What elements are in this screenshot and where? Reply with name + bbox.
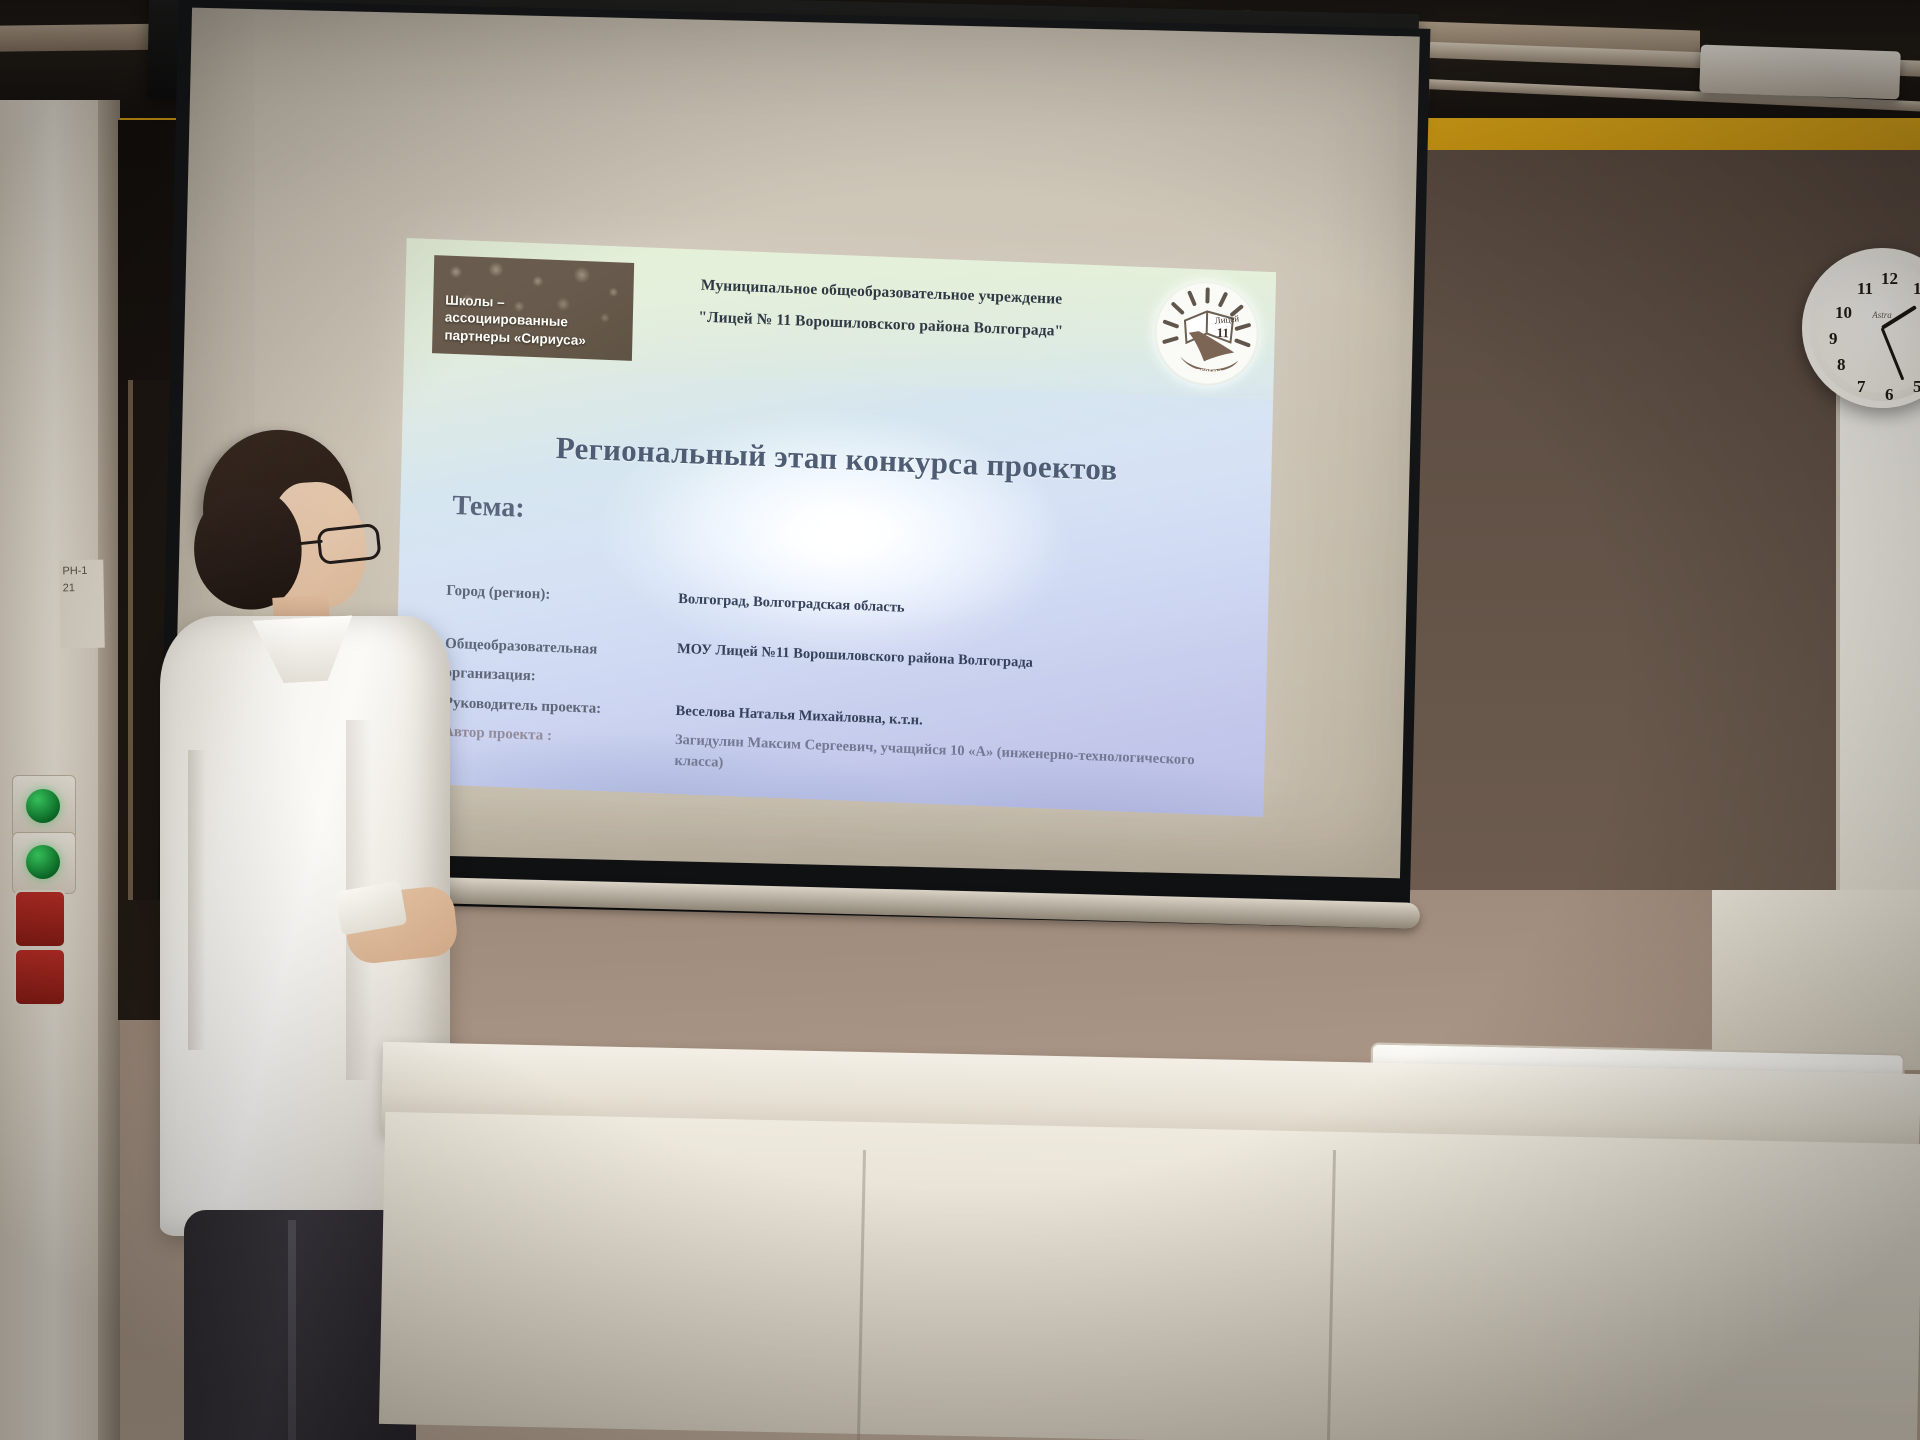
- presenter-trouser-crease: [288, 1220, 296, 1440]
- svg-text:11: 11: [1217, 325, 1230, 340]
- field-label-city: Город (регион):: [446, 580, 678, 612]
- red-power-socket-icon[interactable]: [14, 948, 66, 1006]
- svg-text:Волгоград: Волгоград: [1185, 365, 1228, 377]
- green-indicator-light-icon[interactable]: [26, 789, 60, 823]
- lab-bench-cabinet[interactable]: [379, 1112, 1920, 1440]
- clock-number-5: 5: [1913, 377, 1920, 397]
- projector-icon: [1699, 45, 1901, 100]
- presenter-sleeve-fold-left: [188, 750, 206, 1050]
- clock-number-7: 7: [1857, 377, 1866, 397]
- clock-brand-label: Astra: [1872, 310, 1892, 320]
- clock-number-6: 6: [1885, 385, 1894, 405]
- door-frame-edge: [98, 100, 120, 1440]
- clock-face: 12 1 2 3 4 5 6 7 8 9 10 11 Astra: [1817, 263, 1920, 393]
- eyeglasses-icon: [316, 523, 381, 565]
- clock-number-1: 1: [1913, 279, 1920, 299]
- clock-number-8: 8: [1837, 355, 1846, 375]
- wall-sign-label: РН-1 21: [59, 560, 105, 649]
- slide-field-list: Город (регион): Волгоград, Волгоградская…: [442, 580, 1236, 800]
- classroom-scene: РН-1 21 Школы – ассоциированные партнеры…: [0, 0, 1920, 1440]
- sirius-partner-badge: Школы – ассоциированные партнеры «Сириус…: [432, 255, 634, 361]
- clock-number-12: 12: [1881, 269, 1898, 289]
- clock-minute-hand: [1881, 327, 1905, 380]
- projected-slide: Школы – ассоциированные партнеры «Сириус…: [394, 238, 1276, 817]
- clock-number-11: 11: [1857, 279, 1873, 299]
- clock-number-10: 10: [1835, 303, 1852, 323]
- green-indicator-light-icon[interactable]: [26, 845, 60, 879]
- clock-number-9: 9: [1829, 329, 1838, 349]
- right-whiteboard-edge: [1836, 370, 1920, 890]
- red-power-socket-icon[interactable]: [14, 890, 66, 948]
- right-cabinet: [1712, 890, 1920, 1070]
- slide-title: Региональный этап конкурса проектов: [401, 424, 1271, 494]
